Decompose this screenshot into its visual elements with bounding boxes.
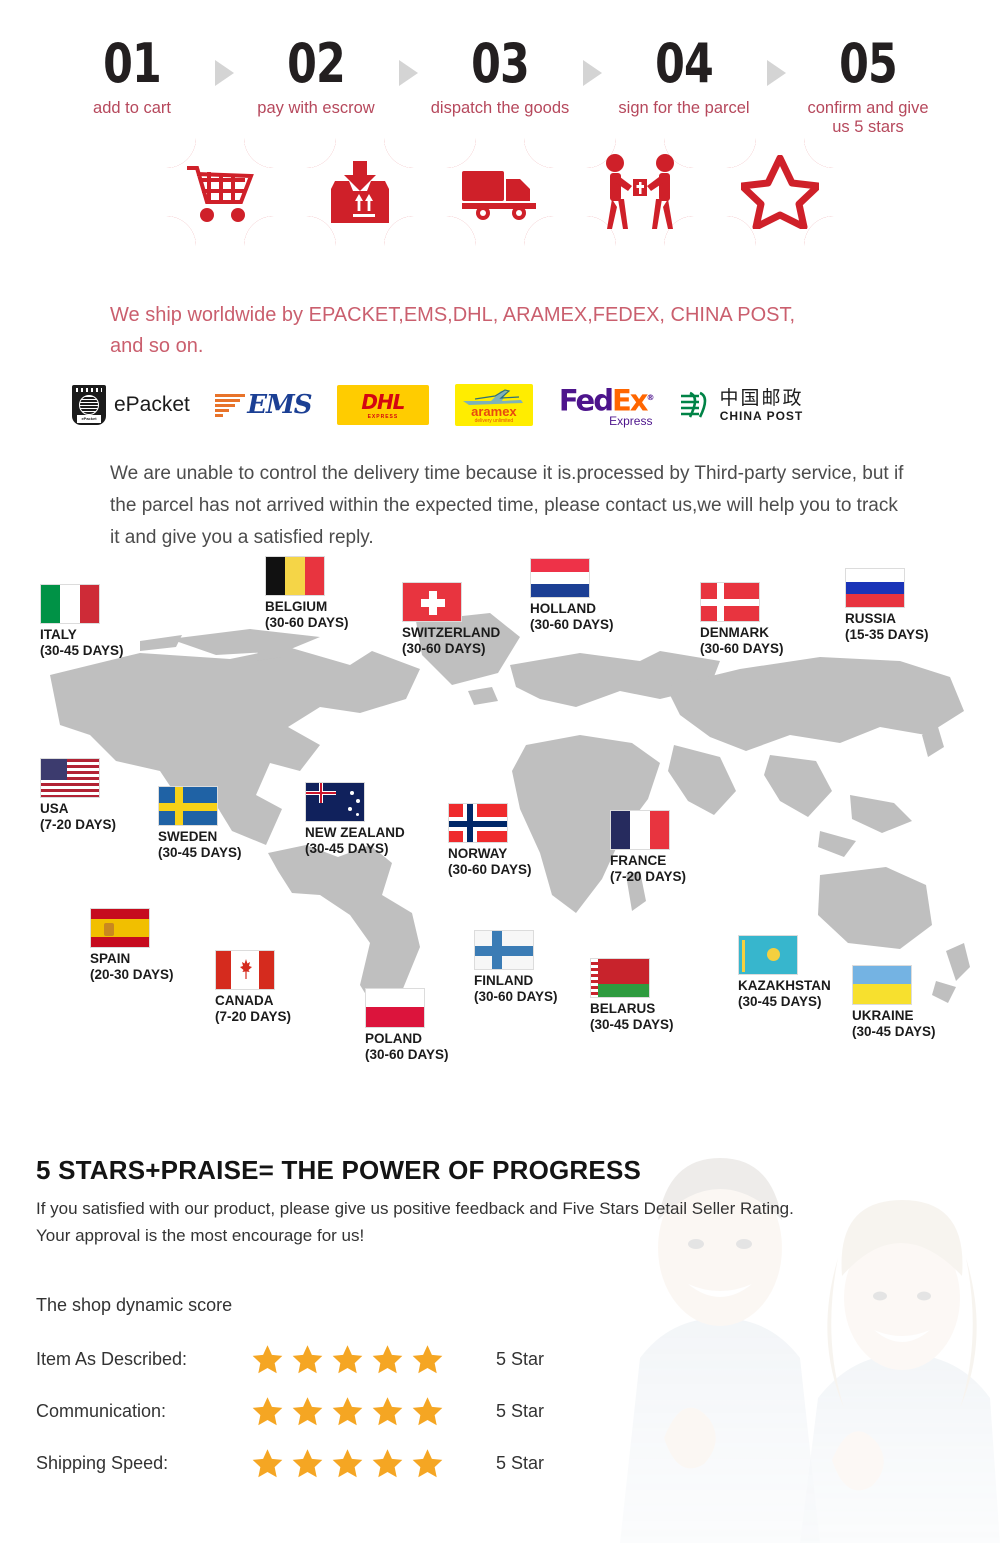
dhl-logo: DHL EXPRESS [337, 385, 429, 425]
flag-poland-icon [365, 988, 425, 1028]
star-filled-icon [411, 1395, 444, 1428]
map-flag-sweden: SWEDEN (30-45 DAYS) [158, 786, 242, 861]
china-post-mark-icon [678, 390, 712, 420]
map-flag-finland: FINLAND (30-60 DAYS) [474, 930, 558, 1005]
rating-stars [251, 1447, 496, 1480]
epacket-label: ePacket [114, 393, 190, 417]
flag-denmark-icon [700, 582, 760, 622]
flag-france-icon [610, 810, 670, 850]
flag-finland-icon [474, 930, 534, 970]
step-number: 02 [251, 34, 381, 93]
star-filled-icon [371, 1395, 404, 1428]
rating-label: Shipping Speed: [36, 1453, 251, 1474]
step-number: 01 [67, 34, 197, 93]
rating-label: Communication: [36, 1401, 251, 1422]
map-flag-spain: SPAIN (20-30 DAYS) [90, 908, 174, 983]
map-flag-usa: USA (7-20 DAYS) [40, 758, 116, 833]
dhl-label: DHL [361, 390, 404, 414]
aramex-label: aramex [471, 405, 517, 418]
rating-stars [251, 1395, 496, 1428]
shopping-cart-icon [166, 138, 274, 246]
step-number: 05 [803, 34, 933, 93]
step-02: 02 pay with escrow [246, 38, 386, 118]
star-filled-icon [371, 1447, 404, 1480]
flag-new-zealand-icon [305, 782, 365, 822]
map-flag-kazakhstan: KAZAKHSTAN (30-45 DAYS) [738, 935, 831, 1010]
step-01: 01 add to cart [62, 38, 202, 118]
order-steps-row: 01 add to cart 02 pay with escrow 03 dis… [0, 38, 1000, 137]
star-filled-icon [251, 1343, 284, 1376]
box-download-icon [306, 138, 414, 246]
map-flag-norway: NORWAY (30-60 DAYS) [448, 803, 532, 878]
ship-worldwide-line1: We ship worldwide by EPACKET,EMS,DHL, AR… [110, 300, 910, 331]
rating-rows: Item As Described: 5 Star Communication:… [36, 1333, 636, 1489]
flag-kazakhstan-icon [738, 935, 798, 975]
rating-row-item-as-described: Item As Described: 5 Star [36, 1333, 636, 1385]
flag-belarus-icon [590, 958, 650, 998]
step-label: add to cart [62, 99, 202, 118]
star-filled-icon [251, 1447, 284, 1480]
epacket-logo: ePacket ePacket [72, 385, 190, 425]
star-filled-icon [371, 1343, 404, 1376]
map-flag-canada: CANADA (7-20 DAYS) [215, 950, 291, 1025]
icon-cell-1 [150, 138, 290, 246]
aramex-sublabel: delivery unlimited [475, 418, 514, 424]
star-filled-icon [411, 1343, 444, 1376]
map-flag-russia: RUSSIA (15-35 DAYS) [845, 568, 929, 643]
map-flag-france: FRANCE (7-20 DAYS) [610, 810, 686, 885]
step-label: sign for the parcel [614, 99, 754, 118]
step-label: pay with escrow [246, 99, 386, 118]
praise-subtext-line2: Your approval is the most encourage for … [36, 1222, 916, 1249]
step-icons-row [0, 138, 1000, 246]
china-post-label-en: CHINA POST [720, 409, 804, 423]
registered-mark-icon: ® [646, 393, 652, 402]
rating-value: 5 Star [496, 1453, 544, 1474]
map-flag-italy: ITALY (30-45 DAYS) [40, 584, 124, 659]
step-label: dispatch the goods [430, 99, 570, 118]
rating-value: 5 Star [496, 1349, 544, 1370]
praise-subtext-line1: If you satisfied with our product, pleas… [36, 1195, 916, 1222]
flag-italy-icon [40, 584, 100, 624]
map-flag-holland: HOLLAND (30-60 DAYS) [530, 558, 614, 633]
step-arrow-3 [570, 38, 614, 86]
ship-worldwide-line2: and so on. [110, 331, 910, 362]
map-flag-denmark: DENMARK (30-60 DAYS) [700, 582, 784, 657]
icon-cell-2 [290, 138, 430, 246]
flag-norway-icon [448, 803, 508, 843]
carrier-logos-row: ePacket ePacket EMS DHL EXPRESS aramex d… [72, 383, 872, 428]
step-arrow-2 [386, 38, 430, 86]
map-flag-belgium: BELGIUM (30-60 DAYS) [265, 556, 349, 631]
map-flag-switzerland: SWITZERLAND (30-60 DAYS) [402, 582, 500, 657]
shop-dynamic-score-title: The shop dynamic score [36, 1295, 232, 1316]
flag-netherlands-icon [530, 558, 590, 598]
rating-row-shipping-speed: Shipping Speed: 5 Star [36, 1437, 636, 1489]
ems-label: EMS [247, 390, 311, 420]
map-flag-poland: POLAND (30-60 DAYS) [365, 988, 449, 1063]
flag-canada-icon [215, 950, 275, 990]
step-05: 05 confirm and give us 5 stars [798, 38, 938, 137]
flag-sweden-icon [158, 786, 218, 826]
flag-switzerland-icon [402, 582, 462, 622]
rating-row-communication: Communication: 5 Star [36, 1385, 636, 1437]
flag-ukraine-icon [852, 965, 912, 1005]
icon-cell-4 [570, 138, 710, 246]
delivery-time-note: We are unable to control the delivery ti… [110, 458, 910, 554]
star-filled-icon [331, 1395, 364, 1428]
fedex-sublabel: Express [609, 414, 652, 428]
epacket-globe-mark: ePacket [72, 385, 106, 425]
world-shipping-map: ITALY (30-45 DAYS) BELGIUM (30-60 DAYS) … [0, 560, 1000, 1100]
praise-section: 5 STARS+PRAISE= THE POWER OF PROGRESS If… [0, 1108, 1000, 1543]
map-flag-new-zealand: NEW ZEALAND (30-45 DAYS) [305, 782, 405, 857]
ems-chevron-bars [215, 394, 245, 417]
rating-label: Item As Described: [36, 1349, 251, 1370]
star-filled-icon [331, 1447, 364, 1480]
star-outline-icon [726, 138, 834, 246]
airplane-icon [461, 388, 525, 406]
happy-customers-photo [580, 1108, 1000, 1543]
praise-subtext: If you satisfied with our product, pleas… [36, 1195, 916, 1249]
step-label: confirm and give us 5 stars [798, 99, 938, 137]
star-filled-icon [291, 1395, 324, 1428]
china-post-logo: 中国邮政 CHINA POST [678, 388, 803, 423]
step-04: 04 sign for the parcel [614, 38, 754, 118]
step-number: 03 [435, 34, 565, 93]
step-number: 04 [619, 34, 749, 93]
flag-belgium-icon [265, 556, 325, 596]
parcel-handover-icon [586, 138, 694, 246]
star-filled-icon [291, 1447, 324, 1480]
map-flag-ukraine: UKRAINE (30-45 DAYS) [852, 965, 936, 1040]
map-flag-belarus: BELARUS (30-45 DAYS) [590, 958, 674, 1033]
flag-usa-icon [40, 758, 100, 798]
praise-title: 5 STARS+PRAISE= THE POWER OF PROGRESS [36, 1155, 641, 1186]
icon-cell-3 [430, 138, 570, 246]
dhl-sublabel: EXPRESS [368, 414, 399, 420]
star-filled-icon [331, 1343, 364, 1376]
delivery-truck-icon [446, 138, 554, 246]
ship-worldwide-text: We ship worldwide by EPACKET,EMS,DHL, AR… [110, 300, 910, 362]
rating-stars [251, 1343, 496, 1376]
flag-spain-icon [90, 908, 150, 948]
star-filled-icon [251, 1395, 284, 1428]
aramex-logo: aramex delivery unlimited [455, 384, 533, 426]
star-filled-icon [411, 1447, 444, 1480]
step-arrow-1 [202, 38, 246, 86]
icon-cell-5 [710, 138, 850, 246]
star-filled-icon [291, 1343, 324, 1376]
step-03: 03 dispatch the goods [430, 38, 570, 118]
china-post-label-cn: 中国邮政 [719, 388, 803, 409]
flag-russia-icon [845, 568, 905, 608]
fedex-label-fed: Fed [559, 384, 612, 418]
fedex-logo: FedEx® Express [559, 383, 653, 428]
ems-logo: EMS [216, 385, 311, 425]
step-arrow-4 [754, 38, 798, 86]
fedex-label-ex: Ex [612, 384, 647, 418]
rating-value: 5 Star [496, 1401, 544, 1422]
